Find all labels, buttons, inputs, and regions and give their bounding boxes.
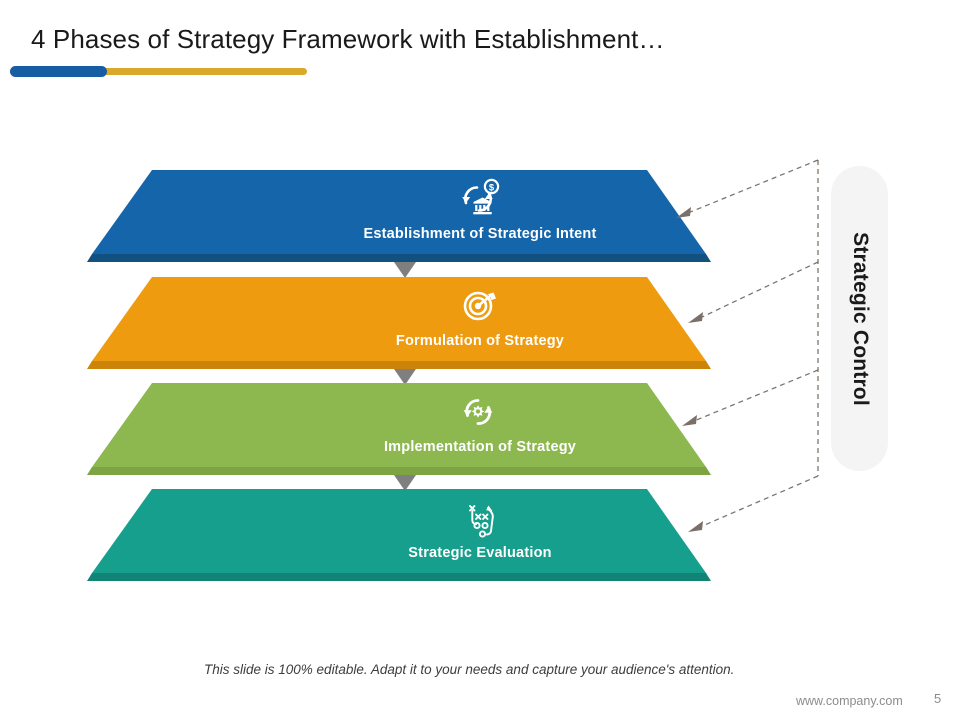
page-title: 4 Phases of Strategy Framework with Esta… <box>31 24 921 55</box>
band-label-3: Implementation of Strategy <box>0 439 960 455</box>
funnel-band-3[interactable]: Implementation of Strategy <box>0 383 960 482</box>
band-label-1: Establishment of Strategic Intent <box>0 226 960 242</box>
svg-text:$: $ <box>489 182 495 193</box>
funnel-band-2[interactable]: Formulation of Strategy <box>0 277 960 376</box>
strategic-control-label-wrap: Strategic Control <box>831 166 888 471</box>
funnel-band-4[interactable]: Strategic Evaluation <box>0 489 960 588</box>
editable-note: This slide is 100% editable. Adapt it to… <box>204 662 734 677</box>
footer-url: www.company.com <box>796 694 903 708</box>
band-label-2: Formulation of Strategy <box>0 333 960 349</box>
slide-canvas: 4 Phases of Strategy Framework with Esta… <box>0 0 960 720</box>
playbook-strategy-icon <box>0 494 960 545</box>
money-cycle-bank-icon: $ <box>0 178 960 225</box>
band-label-4: Strategic Evaluation <box>0 545 960 561</box>
page-number: 5 <box>934 691 941 706</box>
funnel-band-1[interactable]: $ Establishment of Strategic Intent <box>0 170 960 269</box>
step-arrow-1 <box>394 262 416 278</box>
target-dart-icon <box>0 285 960 332</box>
gear-refresh-icon <box>0 391 960 438</box>
strategic-control-label: Strategic Control <box>848 232 872 406</box>
title-rule-blue <box>10 66 107 77</box>
